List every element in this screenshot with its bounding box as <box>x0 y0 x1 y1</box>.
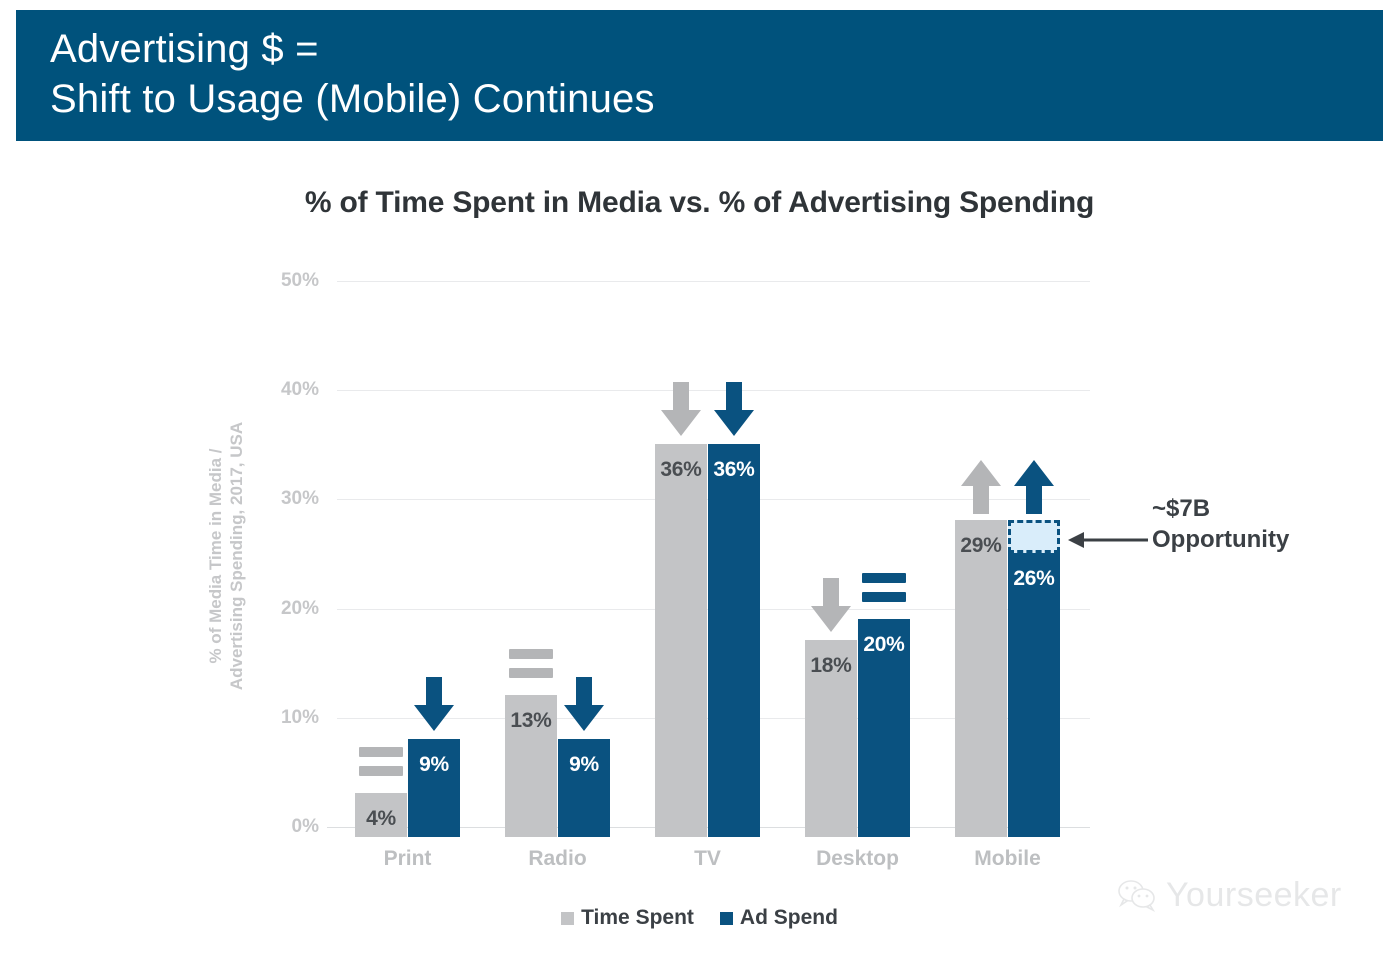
bar-time-spent-desktop[interactable]: 18% <box>805 640 857 837</box>
trend-ad-spend-desktop <box>862 557 906 613</box>
slide-title-line-2: Shift to Usage (Mobile) Continues <box>50 74 1383 124</box>
trend-time-spent-tv <box>659 382 703 438</box>
y-axis-title-line-2: Advertising Spending, 2017, USA <box>227 422 246 690</box>
y-axis-title: % of Media Time in Media / Advertising S… <box>196 341 256 771</box>
opportunity-text: Opportunity <box>1152 524 1382 555</box>
arrow-up-icon <box>1012 458 1056 514</box>
x-axis-label-desktop: Desktop <box>781 847 934 871</box>
bar-value-time-spent-tv: 36% <box>655 458 707 482</box>
chart-title: % of Time Spent in Media vs. % of Advert… <box>0 186 1399 220</box>
opportunity-callout-arrow <box>1068 531 1150 549</box>
opportunity-callout-label: ~$7B Opportunity <box>1152 493 1382 555</box>
y-axis-tick-30: 30% <box>249 488 319 510</box>
bar-value-ad-spend-print: 9% <box>408 753 460 777</box>
x-axis-label-print: Print <box>331 847 484 871</box>
bar-time-spent-radio[interactable]: 13% <box>505 695 557 837</box>
wechat-icon <box>1118 879 1156 912</box>
gridline-50 <box>337 281 1090 282</box>
arrow-down-icon <box>809 578 853 634</box>
plot-area: 0%10%20%30%40%50%4%9%Print13%9%Radio36%3… <box>337 281 1090 837</box>
trend-ad-spend-print <box>412 677 456 733</box>
y-axis-tick-50: 50% <box>249 270 319 292</box>
legend-swatch-time-spent <box>561 912 574 925</box>
trend-ad-spend-radio <box>562 677 606 733</box>
bar-value-time-spent-desktop: 18% <box>805 654 857 678</box>
watermark: Yourseeker <box>1118 876 1342 915</box>
bar-ad-spend-desktop[interactable]: 20% <box>858 619 910 837</box>
arrow-down-icon <box>659 382 703 438</box>
legend-swatch-ad-spend <box>720 912 733 925</box>
bar-group-mobile: 29%26%Mobile <box>955 291 1060 837</box>
opportunity-box <box>1008 520 1060 553</box>
bar-time-spent-mobile[interactable]: 29% <box>955 520 1007 837</box>
slide-header-banner: Advertising $ = Shift to Usage (Mobile) … <box>16 10 1383 141</box>
trend-time-spent-desktop <box>809 578 853 634</box>
equals-icon <box>359 747 403 777</box>
arrow-up-icon <box>959 458 1003 514</box>
bar-group-radio: 13%9%Radio <box>505 291 610 837</box>
bar-value-ad-spend-mobile: 26% <box>1008 567 1060 591</box>
bar-ad-spend-radio[interactable]: 9% <box>558 739 610 837</box>
trend-time-spent-print <box>359 731 403 787</box>
arrow-down-icon <box>562 677 606 733</box>
bar-group-print: 4%9%Print <box>355 291 460 837</box>
bar-value-time-spent-radio: 13% <box>505 709 557 733</box>
bar-group-tv: 36%36%TV <box>655 291 760 837</box>
bar-time-spent-print[interactable]: 4% <box>355 793 407 837</box>
legend-item-time-spent[interactable]: Time Spent <box>561 906 694 930</box>
opportunity-amount: ~$7B <box>1152 493 1382 524</box>
bar-ad-spend-mobile[interactable]: 26% <box>1008 553 1060 837</box>
bar-value-time-spent-mobile: 29% <box>955 534 1007 558</box>
equals-icon <box>509 649 553 679</box>
x-axis-label-tv: TV <box>631 847 784 871</box>
legend-label-time-spent: Time Spent <box>581 906 694 930</box>
trend-ad-spend-mobile <box>1012 458 1056 514</box>
bar-group-desktop: 18%20%Desktop <box>805 291 910 837</box>
y-axis-title-line-1: % of Media Time in Media / <box>206 448 225 663</box>
bar-ad-spend-print[interactable]: 9% <box>408 739 460 837</box>
trend-time-spent-radio <box>509 633 553 689</box>
bar-value-ad-spend-tv: 36% <box>708 458 760 482</box>
watermark-text: Yourseeker <box>1166 876 1342 915</box>
bar-ad-spend-tv[interactable]: 36% <box>708 444 760 837</box>
y-axis-tick-10: 10% <box>249 707 319 729</box>
trend-time-spent-mobile <box>959 458 1003 514</box>
y-axis-tick-40: 40% <box>249 379 319 401</box>
y-axis-tick-20: 20% <box>249 598 319 620</box>
bar-value-ad-spend-radio: 9% <box>558 753 610 777</box>
legend-label-ad-spend: Ad Spend <box>740 906 838 930</box>
y-axis-title-text: % of Media Time in Media / Advertising S… <box>205 422 247 690</box>
bar-value-ad-spend-desktop: 20% <box>858 633 910 657</box>
arrow-down-icon <box>712 382 756 438</box>
trend-ad-spend-tv <box>712 382 756 438</box>
slide-title-line-1: Advertising $ = <box>50 24 1383 74</box>
chart-container: % of Time Spent in Media vs. % of Advert… <box>0 141 1399 960</box>
y-axis-tick-0: 0% <box>249 816 319 838</box>
arrow-down-icon <box>412 677 456 733</box>
x-axis-label-mobile: Mobile <box>931 847 1084 871</box>
legend-item-ad-spend[interactable]: Ad Spend <box>720 906 838 930</box>
x-axis-label-radio: Radio <box>481 847 634 871</box>
equals-icon <box>862 573 906 603</box>
bar-time-spent-tv[interactable]: 36% <box>655 444 707 837</box>
bar-value-time-spent-print: 4% <box>355 807 407 831</box>
